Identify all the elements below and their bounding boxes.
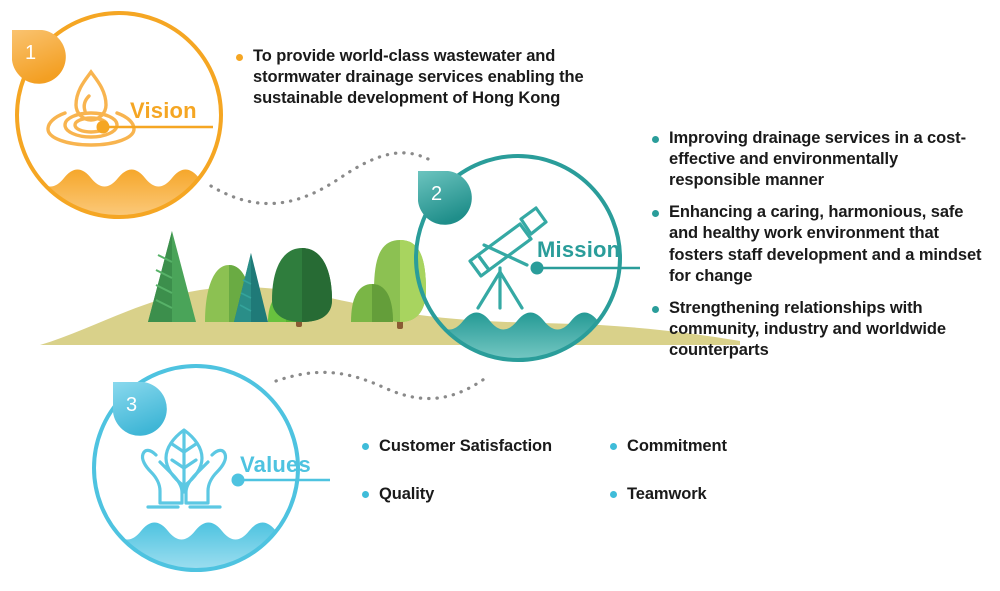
list-item: Enhancing a caring, harmonious, safe and…: [652, 202, 992, 286]
bullet-text: Enhancing a caring, harmonious, safe and…: [669, 202, 992, 286]
values-bullet-list: Customer Satisfaction Commitment Quality…: [362, 436, 727, 505]
bullet-dot-icon: [652, 306, 659, 313]
vision-number: 1: [25, 42, 36, 65]
bullet-text: Quality: [379, 484, 434, 505]
bullet-text: Teamwork: [627, 484, 707, 505]
list-item: Strengthening relationships with communi…: [652, 298, 992, 361]
bullet-dot-icon: [236, 54, 243, 61]
bullet-dot-icon: [610, 491, 617, 498]
values-number: 3: [126, 394, 137, 417]
list-item: To provide world-class wastewater and st…: [236, 46, 631, 109]
bullet-dot-icon: [652, 136, 659, 143]
list-item: Customer Satisfaction: [362, 436, 610, 457]
bullet-dot-icon: [610, 443, 617, 450]
list-item: Quality: [362, 484, 610, 505]
bullet-text: Improving drainage services in a cost-ef…: [669, 128, 992, 191]
vision-bullet-list: To provide world-class wastewater and st…: [236, 46, 631, 120]
bullet-text: Commitment: [627, 436, 727, 457]
bullet-dot-icon: [362, 491, 369, 498]
mission-label: Mission: [537, 237, 620, 263]
bullet-text: Customer Satisfaction: [379, 436, 552, 457]
list-item: Teamwork: [610, 484, 727, 505]
list-item: Commitment: [610, 436, 727, 457]
infographic-canvas: Vision Mission Values 1 2 3 To provide w…: [0, 0, 1000, 591]
bullet-text: To provide world-class wastewater and st…: [253, 46, 631, 109]
mission-bullet-list: Improving drainage services in a cost-ef…: [652, 128, 992, 372]
list-item: Improving drainage services in a cost-ef…: [652, 128, 992, 191]
mission-number: 2: [431, 183, 442, 206]
bullet-dot-icon: [362, 443, 369, 450]
vision-label: Vision: [130, 98, 197, 124]
bullet-text: Strengthening relationships with communi…: [669, 298, 992, 361]
bullet-dot-icon: [652, 210, 659, 217]
values-label: Values: [240, 452, 311, 478]
